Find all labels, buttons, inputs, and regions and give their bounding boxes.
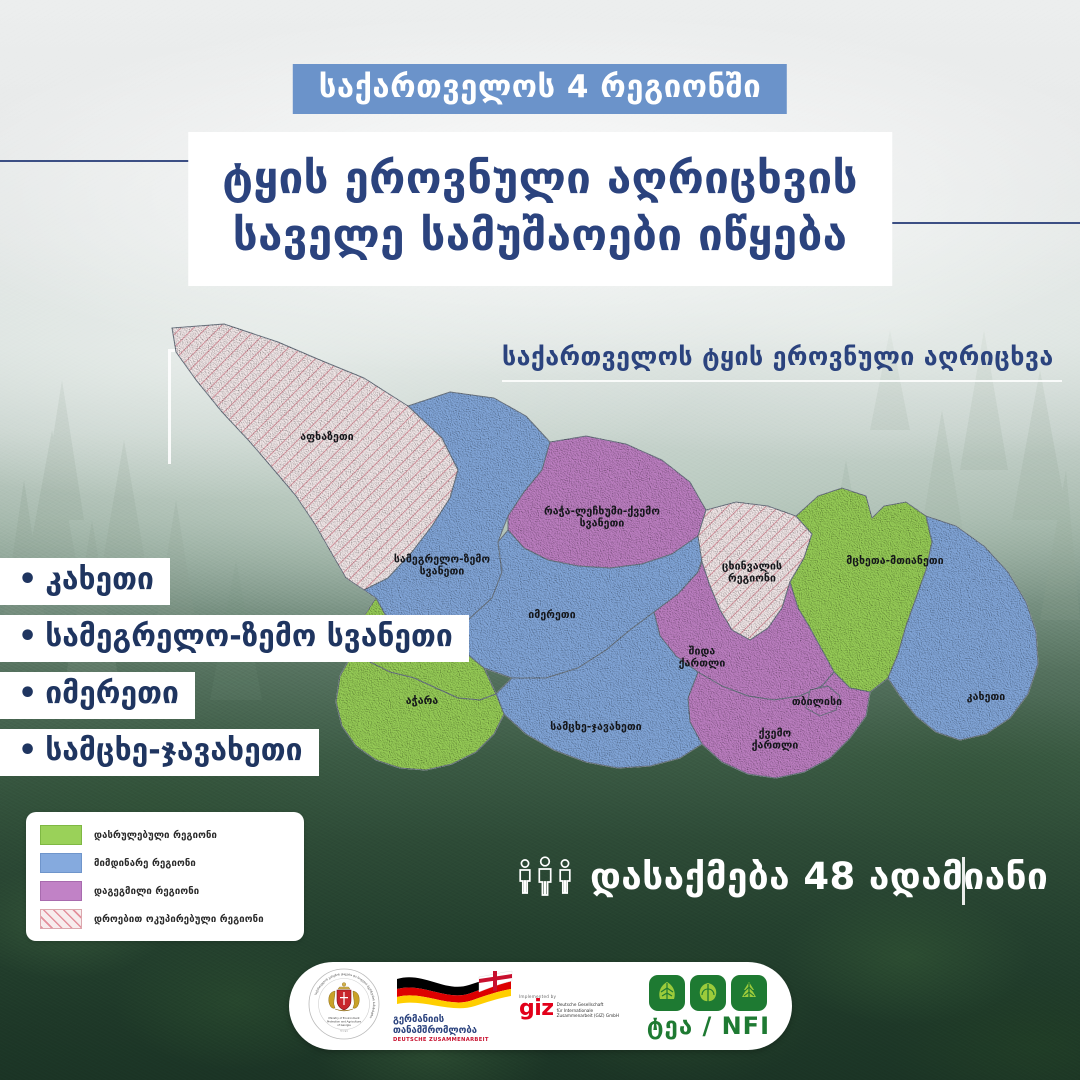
- map-region-label: შიდაქართლი: [642, 646, 762, 670]
- legend-swatch-green: [40, 825, 82, 845]
- page-title-line-2: საველე სამუშაოები იწყება: [222, 207, 858, 264]
- legend-label-planned: დაგეგმილი რეგიონი: [94, 886, 199, 897]
- legend-item-ongoing: მიმდინარე რეგიონი: [40, 853, 292, 873]
- map-region-label-line: იმერეთი: [528, 610, 576, 622]
- footer-logo-bar: საქართველოს გარემოს დაცვისა და სოფლის მე…: [289, 962, 792, 1050]
- legend-item-completed: დასრულებული რეგიონი: [40, 825, 292, 845]
- region-bullet-4: •სამცხე-ჯავახეთი: [0, 729, 319, 776]
- employment-stat: დასაქმება 48 ადამიანი: [516, 856, 1048, 896]
- map-region-label: ქვემოქართლი: [715, 728, 835, 752]
- german-cooperation-text: გერმანიის თანამშრომლობა DEUTSCHE ZUSAMME…: [393, 1015, 513, 1044]
- legend-swatch-purple: [40, 881, 82, 901]
- legend-label-completed: დასრულებული რეგიონი: [94, 830, 217, 841]
- leaf-icon-3: [731, 975, 767, 1011]
- region-bullet-label: იმერეთი: [45, 676, 179, 711]
- legend-swatch-hatched: [40, 909, 82, 929]
- bullet-dot-icon: •: [18, 736, 37, 766]
- nfi-leaf-tiles: [647, 975, 770, 1011]
- legend-item-planned: დაგეგმილი რეგიონი: [40, 881, 292, 901]
- region-bullet-label: სამცხე-ჯავახეთი: [45, 733, 302, 768]
- leaf-icon-2: [690, 975, 726, 1011]
- map-region-label: თბილისი: [792, 697, 842, 709]
- giz-description: Deutsche Gesellschaft für Internationale…: [557, 1002, 619, 1018]
- seal-center-text: Ministry of Environment: [328, 1016, 359, 1020]
- giz-desc-line3: Zusammenarbeit (GIZ) GmbH: [557, 1013, 619, 1018]
- svg-text:Protection and Agriculture: Protection and Agriculture: [327, 1019, 361, 1023]
- region-bullet-1: •კახეთი: [0, 558, 170, 605]
- map-region-label: ცხინვალისრეგიონი: [692, 561, 812, 585]
- region-bullet-label: კახეთი: [45, 562, 154, 597]
- german-coop-line2: თანამშრომლობა: [393, 1026, 513, 1037]
- svg-text:of Georgia: of Georgia: [337, 1023, 351, 1027]
- stat-divider-rule: [962, 857, 965, 905]
- map-region-label-line: აფხაზეთი: [300, 432, 354, 444]
- map-region-label-line: ცხინვალის: [692, 561, 812, 573]
- three-people-icon: [516, 856, 574, 896]
- region-bullet-label: სამეგრელო-ზემო სვანეთი: [45, 619, 453, 654]
- region-bullet-2: •სამეგრელო-ზემო სვანეთი: [0, 615, 469, 662]
- page-title-line-1: ტყის ეროვნული აღრიცხვის: [222, 150, 858, 207]
- header-kicker: საქართველოს 4 რეგიონში: [293, 64, 787, 114]
- legend-label-ongoing: მიმდინარე რეგიონი: [94, 858, 196, 869]
- map-region-label-line: შიდა: [642, 646, 762, 658]
- map-region-label-line: სამცხე-ჯავახეთი: [550, 722, 642, 734]
- map-region-label: კახეთი: [967, 692, 1006, 704]
- map-region-label: სამცხე-ჯავახეთი: [550, 722, 642, 734]
- nfi-logo: ტეა / NFI: [647, 975, 770, 1038]
- map-region-label: მცხეთა-მთიანეთი: [846, 556, 943, 568]
- map-region-label-line: კახეთი: [967, 692, 1006, 704]
- infographic-poster: საქართველოს 4 რეგიონში ტყის ეროვნული აღრ…: [0, 0, 1080, 1080]
- map-region-label: რაჭა-ლეჩხუმი-ქვემოსვანეთი: [542, 506, 662, 530]
- employment-stat-text: დასაქმება 48 ადამიანი: [590, 858, 1048, 895]
- map-region-label: აფხაზეთი: [300, 432, 354, 444]
- nfi-label: ტეა / NFI: [647, 1014, 770, 1038]
- region-bullet-3: •იმერეთი: [0, 672, 195, 719]
- german-coop-line3: DEUTSCHE ZUSAMMENARBEIT: [393, 1037, 513, 1043]
- map-region-label-line: სვანეთი: [542, 518, 662, 530]
- giz-logo: Implemented by giz Deutsche Gesellschaft…: [519, 994, 619, 1018]
- map-region-label-line: ქართლი: [642, 658, 762, 670]
- legend-item-occupied: დროებით ოკუპირებული რეგიონი: [40, 909, 292, 929]
- map-region-label-line: მცხეთა-მთიანეთი: [846, 556, 943, 568]
- region-bullet-list: •კახეთი•სამეგრელო-ზემო სვანეთი•იმერეთი•ს…: [0, 558, 420, 786]
- bullet-dot-icon: •: [18, 622, 37, 652]
- map-legend: დასრულებული რეგიონი მიმდინარე რეგიონი და…: [26, 812, 304, 941]
- header-title-box: ტყის ეროვნული აღრიცხვის საველე სამუშაოებ…: [188, 132, 892, 286]
- giz-wordmark: giz: [519, 1000, 554, 1018]
- map-region-label-line: რეგიონი: [692, 573, 812, 585]
- legend-swatch-blue: [40, 853, 82, 873]
- map-region-label-line: ქვემო: [715, 728, 835, 740]
- bullet-dot-icon: •: [18, 565, 37, 595]
- svg-text:Georgia: Georgia: [340, 1030, 349, 1033]
- german-coop-line1: გერმანიის: [393, 1015, 513, 1026]
- map-region-label-line: რაჭა-ლეჩხუმი-ქვემო: [542, 506, 662, 518]
- ministry-seal-logo: საქართველოს გარემოს დაცვისა და სოფლის მე…: [307, 967, 381, 1045]
- map-region-label-line: თბილისი: [792, 697, 842, 709]
- map-region-label: იმერეთი: [528, 610, 576, 622]
- bullet-dot-icon: •: [18, 679, 37, 709]
- german-cooperation-logo: გერმანიის თანამშრომლობა DEUTSCHE ZUSAMME…: [393, 969, 513, 1044]
- legend-label-occupied: დროებით ოკუპირებული რეგიონი: [94, 914, 264, 925]
- map-region-label-line: ქართლი: [715, 740, 835, 752]
- leaf-icon-1: [649, 975, 685, 1011]
